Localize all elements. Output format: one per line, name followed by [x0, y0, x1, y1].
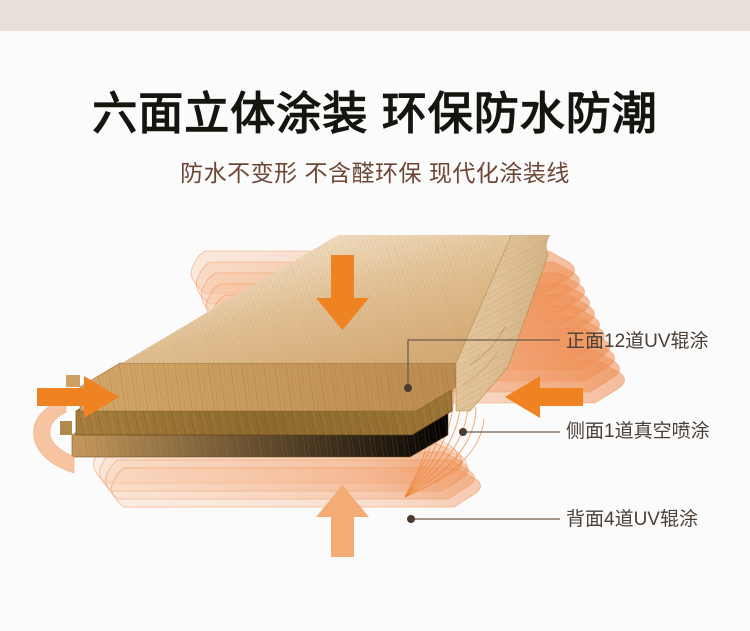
page-subtitle: 防水不变形 不含醛环保 现代化涂装线	[0, 158, 750, 188]
wood-plank	[60, 235, 556, 457]
leader-dot-front	[404, 384, 412, 392]
plank-edge-layer	[80, 363, 456, 411]
callout-label-back: 背面4道UV辊涂	[566, 509, 698, 531]
header-block: 六面立体涂装 环保防水防潮 防水不变形 不含醛环保 现代化涂装线	[0, 86, 750, 188]
callout-label-side: 侧面1道真空喷涂	[566, 421, 710, 443]
leader-dot-side	[459, 428, 467, 436]
leader-dot-back	[407, 515, 415, 523]
top-color-band	[0, 0, 750, 31]
page-title: 六面立体涂装 环保防水防潮	[0, 86, 750, 142]
callout-label-front: 正面12道UV辊涂	[566, 331, 709, 353]
product-infographic-page: 六面立体涂装 环保防水防潮 防水不变形 不含醛环保 现代化涂装线	[0, 0, 750, 631]
